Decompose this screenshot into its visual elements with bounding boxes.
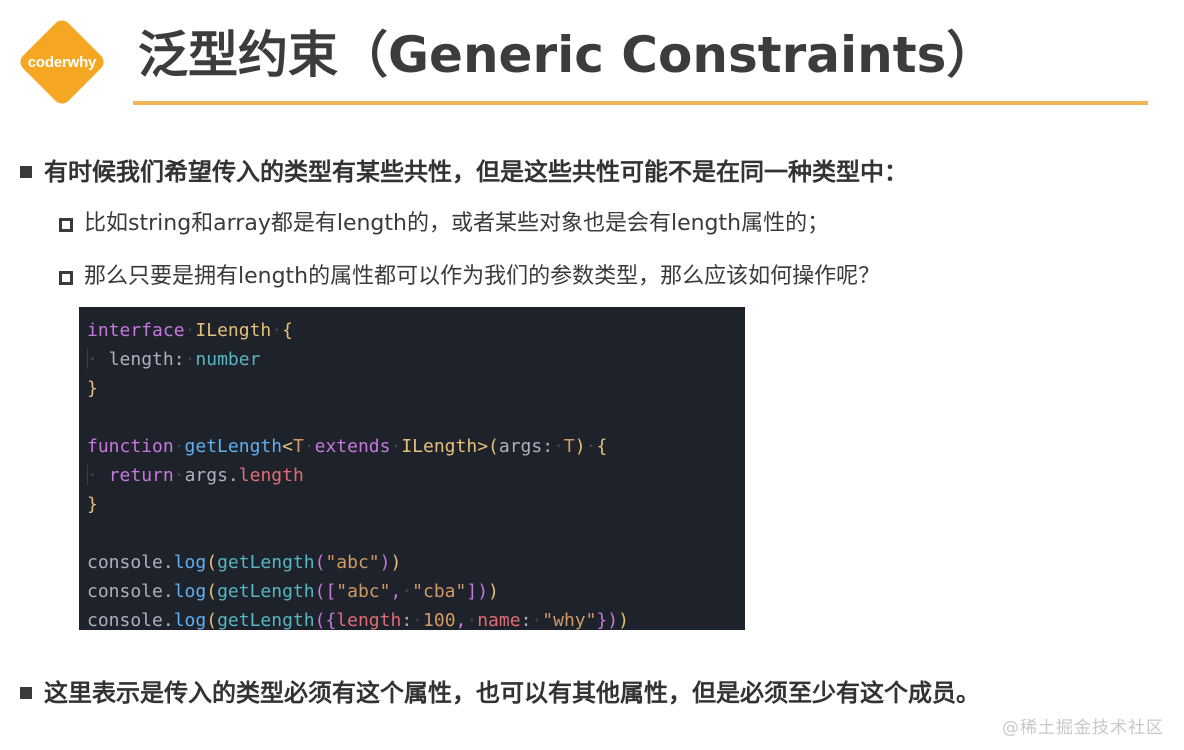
code-token-paren: ) bbox=[390, 552, 401, 573]
code-token-angle: < bbox=[282, 436, 293, 457]
code-token-dot: . bbox=[228, 465, 239, 486]
code-token-colon: : bbox=[401, 610, 412, 630]
code-token-paren: ) bbox=[380, 552, 391, 573]
code-ws: · bbox=[174, 436, 185, 457]
code-ws: · bbox=[401, 581, 412, 602]
code-token-brace: { bbox=[282, 320, 293, 341]
code-token-string: "cba" bbox=[412, 581, 466, 602]
watermark: @稀土掘金技术社区 bbox=[1002, 713, 1164, 738]
code-token-dot: . bbox=[163, 552, 174, 573]
sub-bullet-2-label: 那么只要是拥有length的属性都可以作为我们的参数类型，那么应该如何操作呢？ bbox=[84, 262, 880, 292]
code-token-object: console bbox=[87, 552, 163, 573]
code-token-object: console bbox=[87, 581, 163, 602]
code-token-string: "why" bbox=[542, 610, 596, 630]
page-title: 泛型约束（Generic Constraints） bbox=[138, 25, 996, 85]
code-token-keyword: interface bbox=[87, 320, 185, 341]
code-token-paren: ( bbox=[206, 581, 217, 602]
code-block[interactable]: interface·ILength·{ · length:·number } f… bbox=[79, 307, 745, 630]
code-token-paren: }) bbox=[596, 610, 618, 630]
bullet-square-filled-icon bbox=[20, 687, 32, 699]
code-token-type: ILength bbox=[195, 320, 271, 341]
code-token-comma: , bbox=[390, 581, 401, 602]
code-ws: · bbox=[466, 610, 477, 630]
code-token-colon: : bbox=[174, 349, 185, 370]
bullet-footer-label: 这里表示是传入的类型必须有这个属性，也可以有其他属性，但是必须至少有这个成员。 bbox=[44, 677, 980, 709]
code-ws: · bbox=[586, 436, 597, 457]
bullet-square-hollow-icon bbox=[59, 271, 73, 285]
coderwhy-logo: coderwhy bbox=[14, 17, 110, 107]
code-token-colon: : bbox=[521, 610, 532, 630]
code-token-colon: : bbox=[542, 436, 553, 457]
code-line: · length:·number bbox=[87, 345, 745, 374]
code-token-brace: } bbox=[87, 378, 98, 399]
code-ws: · bbox=[87, 349, 109, 370]
code-ws: · bbox=[185, 320, 196, 341]
code-token-keyword: function bbox=[87, 436, 174, 457]
code-ws: · bbox=[271, 320, 282, 341]
code-line: console.log(getLength({length:·100,·name… bbox=[87, 606, 745, 630]
code-line-blank bbox=[87, 403, 745, 432]
code-token-keyword: extends bbox=[315, 436, 391, 457]
sub-bullet-1: 比如string和array都是有length的，或者某些对象也是会有lengt… bbox=[59, 209, 829, 239]
code-line: console.log(getLength(["abc",·"cba"])) bbox=[87, 577, 745, 606]
code-token-string: "abc" bbox=[325, 552, 379, 573]
code-line: interface·ILength·{ bbox=[87, 316, 745, 345]
code-token-param: args bbox=[185, 465, 228, 486]
code-token-paren: ) bbox=[575, 436, 586, 457]
slide-root: coderwhy 泛型约束（Generic Constraints） 有时候我们… bbox=[0, 0, 1184, 750]
sub-bullet-2: 那么只要是拥有length的属性都可以作为我们的参数类型，那么应该如何操作呢？ bbox=[59, 262, 880, 292]
code-token-paren: ( bbox=[315, 552, 326, 573]
code-token-angle: > bbox=[477, 436, 488, 457]
code-ws: · bbox=[553, 436, 564, 457]
code-line: console.log(getLength("abc")) bbox=[87, 548, 745, 577]
code-token-comma: , bbox=[456, 610, 467, 630]
bullet-square-filled-icon bbox=[20, 166, 32, 178]
code-ws: · bbox=[531, 610, 542, 630]
code-ws: · bbox=[304, 436, 315, 457]
code-ws: · bbox=[174, 465, 185, 486]
code-token-string: "abc" bbox=[336, 581, 390, 602]
code-ws: · bbox=[185, 349, 196, 370]
code-token-type: ILength bbox=[401, 436, 477, 457]
code-token-method: log bbox=[174, 581, 207, 602]
code-token-property: length bbox=[109, 349, 174, 370]
code-token-key: length bbox=[336, 610, 401, 630]
code-line-blank bbox=[87, 519, 745, 548]
code-token-paren: ({ bbox=[315, 610, 337, 630]
code-token-generic: T bbox=[293, 436, 304, 457]
code-token-function-call: getLength bbox=[217, 581, 315, 602]
code-token-paren: ( bbox=[206, 610, 217, 630]
title-underline-rule bbox=[133, 101, 1148, 105]
code-token-paren: ([ bbox=[315, 581, 337, 602]
code-ws: · bbox=[390, 436, 401, 457]
code-line: } bbox=[87, 374, 745, 403]
code-token-brace: { bbox=[596, 436, 607, 457]
code-token-generic: T bbox=[564, 436, 575, 457]
code-token-object: console bbox=[87, 610, 163, 630]
code-ws: · bbox=[87, 465, 109, 486]
code-token-key: name bbox=[477, 610, 520, 630]
code-token-function-name: getLength bbox=[185, 436, 283, 457]
code-ws: · bbox=[412, 610, 423, 630]
code-token-dot: . bbox=[163, 610, 174, 630]
bullet-main: 有时候我们希望传入的类型有某些共性，但是这些共性可能不是在同一种类型中： bbox=[20, 156, 908, 188]
bullet-main-label: 有时候我们希望传入的类型有某些共性，但是这些共性可能不是在同一种类型中： bbox=[44, 156, 908, 188]
code-token-keyword: return bbox=[109, 465, 174, 486]
code-token-paren: ) bbox=[618, 610, 629, 630]
code-token-paren: ( bbox=[206, 552, 217, 573]
sub-bullet-1-label: 比如string和array都是有length的，或者某些对象也是会有lengt… bbox=[84, 209, 829, 239]
code-token-param: args bbox=[499, 436, 542, 457]
code-token-method: log bbox=[174, 610, 207, 630]
code-token-dot: . bbox=[163, 581, 174, 602]
code-token-paren: ( bbox=[488, 436, 499, 457]
code-token-paren: ) bbox=[488, 581, 499, 602]
code-line: function·getLength<T·extends·ILength>(ar… bbox=[87, 432, 745, 461]
code-token-function-call: getLength bbox=[217, 610, 315, 630]
code-line: } bbox=[87, 490, 745, 519]
code-token-function-call: getLength bbox=[217, 552, 315, 573]
code-token-brace: } bbox=[87, 494, 98, 515]
code-token-builtin: number bbox=[195, 349, 260, 370]
code-token-method: log bbox=[174, 552, 207, 573]
code-token-number: 100 bbox=[423, 610, 456, 630]
code-token-paren: ]) bbox=[466, 581, 488, 602]
code-line: · return·args.length bbox=[87, 461, 745, 490]
logo-label: coderwhy bbox=[14, 17, 110, 107]
slide-header: coderwhy 泛型约束（Generic Constraints） bbox=[0, 0, 1184, 112]
code-token-member: length bbox=[239, 465, 304, 486]
bullet-square-hollow-icon bbox=[59, 218, 73, 232]
bullet-footer: 这里表示是传入的类型必须有这个属性，也可以有其他属性，但是必须至少有这个成员。 bbox=[20, 677, 980, 709]
